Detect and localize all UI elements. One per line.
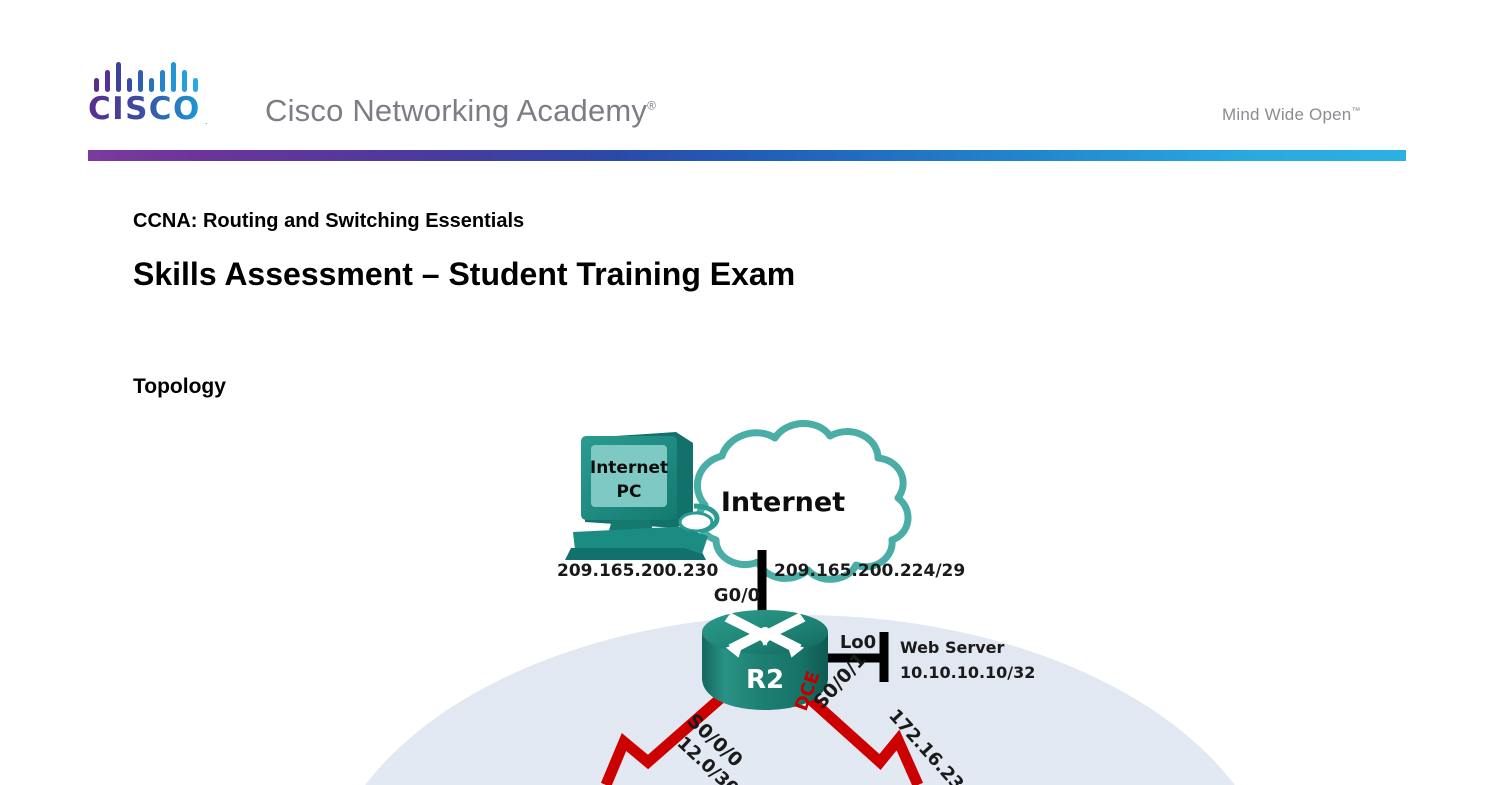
course-subtitle: CCNA: Routing and Switching Essentials <box>133 210 524 233</box>
cloud-label: Internet <box>721 487 845 518</box>
academy-title: Cisco Networking Academy® <box>265 93 656 129</box>
cisco-bars-logo-icon <box>94 58 222 92</box>
page-title: Skills Assessment – Student Training Exa… <box>133 256 795 293</box>
cisco-wordmark: CISCO <box>88 94 201 125</box>
brand-tagline-text: Mind Wide Open <box>1222 105 1351 124</box>
trademark-mark: ™ <box>1351 105 1360 115</box>
pc-ip-label: 209.165.200.230 <box>557 561 718 581</box>
web-server-ip-label: 10.10.10.10/32 <box>900 663 1035 682</box>
cisco-wordmark-registered: . <box>205 116 208 126</box>
section-heading-topology: Topology <box>133 375 226 399</box>
pc-label-line2: PC <box>617 482 642 502</box>
web-server-label: Web Server <box>900 638 1005 657</box>
page-header: CISCO . Cisco Networking Academy® Mind W… <box>0 0 1500 170</box>
loopback-interface-label: Lo0 <box>840 632 876 653</box>
router-wan-interface-label: G0/0 <box>714 585 760 606</box>
internet-pc-device: Internet PC <box>565 432 717 560</box>
header-gradient-divider <box>88 150 1406 161</box>
topology-diagram: Internet Internet PC 209.165.200.230 209… <box>0 410 1500 785</box>
academy-registered-mark: ® <box>647 99 656 113</box>
router-name-label: R2 <box>746 665 784 695</box>
academy-title-text: Cisco Networking Academy <box>265 93 647 128</box>
pc-label-line1: Internet <box>590 458 668 478</box>
cloud-network-label: 209.165.200.224/29 <box>774 561 965 581</box>
brand-tagline: Mind Wide Open™ <box>1222 105 1361 125</box>
cisco-logo: CISCO . <box>88 58 228 138</box>
internet-cloud: Internet <box>697 423 908 579</box>
